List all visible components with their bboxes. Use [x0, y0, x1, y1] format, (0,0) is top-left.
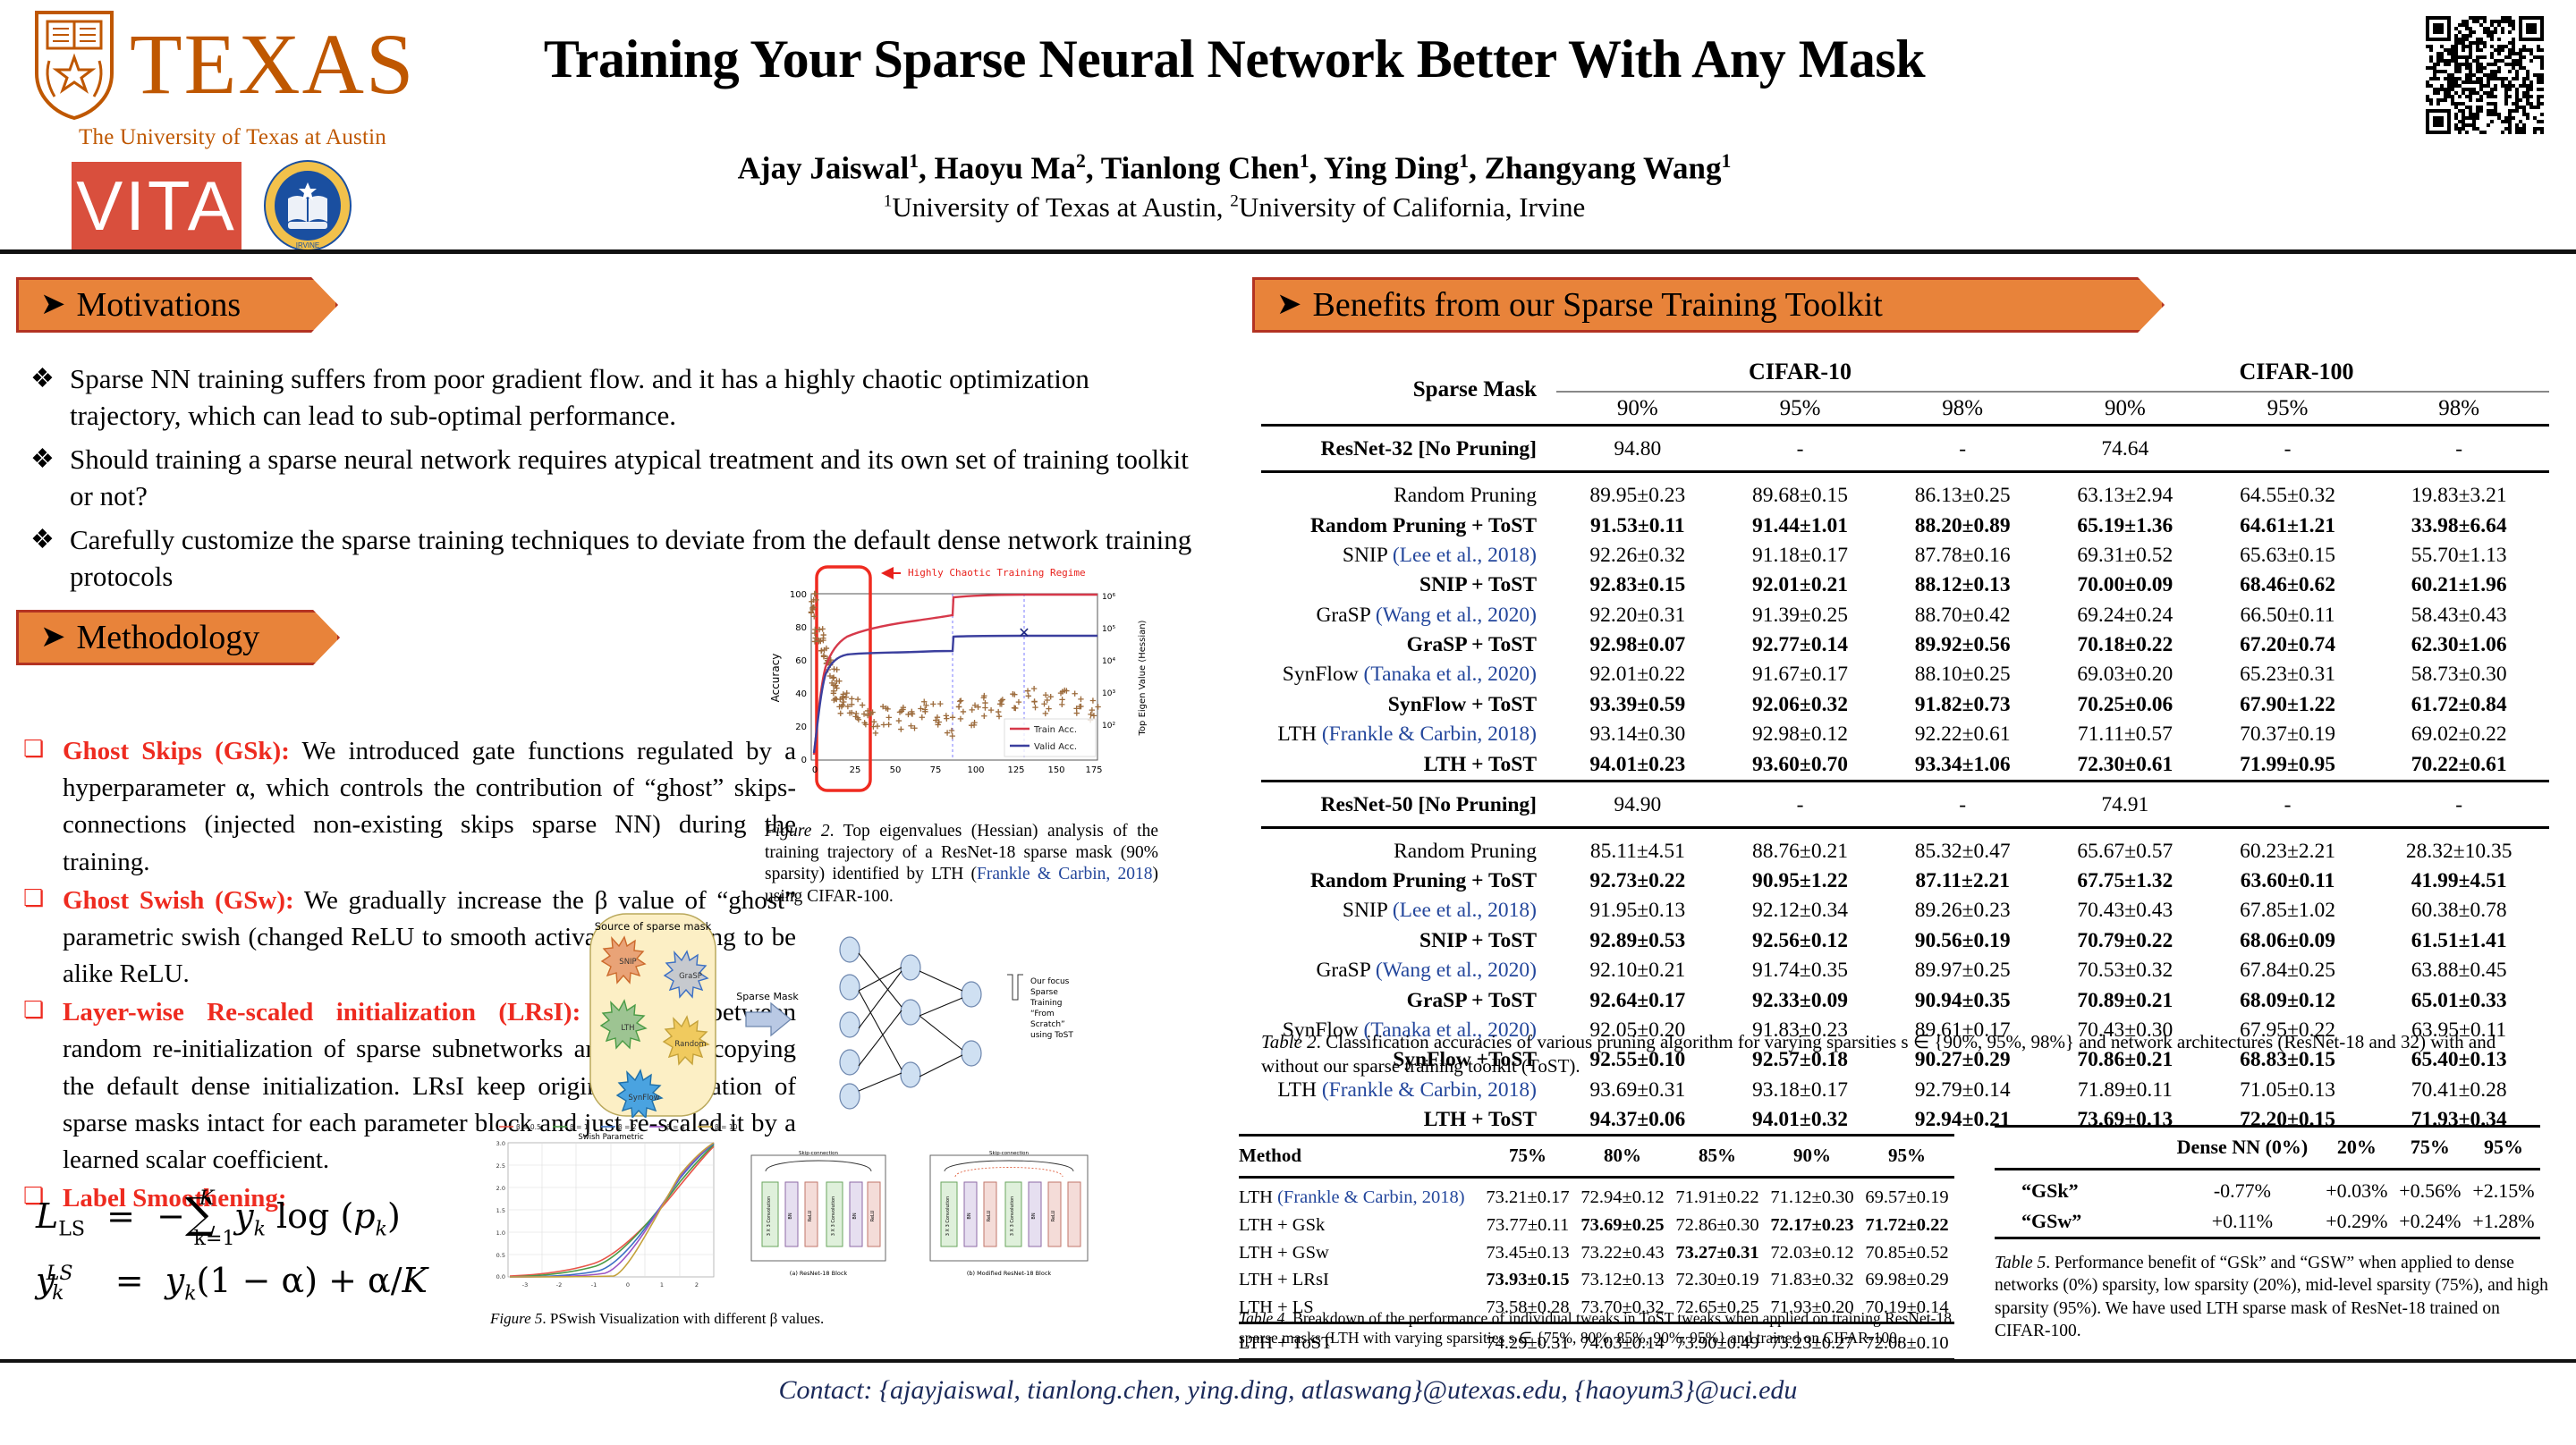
table-2-cell: 93.60±0.70 — [1719, 750, 1882, 782]
svg-text:50: 50 — [890, 765, 902, 775]
svg-text:0: 0 — [626, 1281, 630, 1289]
table-2-cell: 65.19±1.36 — [2044, 511, 2207, 541]
mask-source-diagram: Source of sparse mask SNIP GraSP LTH Ran… — [483, 912, 1199, 1118]
table-2-cell: 92.77±0.14 — [1719, 630, 1882, 660]
x-axis-ticks: 02550 75100125 150175 — [812, 765, 1103, 775]
table-2-cell: 58.73±0.30 — [2368, 660, 2549, 689]
table-2-method-label: SNIP + ToST — [1261, 570, 1556, 600]
table-2-cell: 93.69±0.31 — [1556, 1076, 1719, 1105]
table-row: Random Pruning89.95±0.2389.68±0.1586.13±… — [1261, 472, 2549, 511]
table-2-cell: 88.70±0.42 — [1881, 601, 2044, 630]
table-5-cell: +0.03% — [2320, 1169, 2394, 1206]
table-2-cell: 69.31±0.52 — [2044, 541, 2207, 570]
table-2-cell: 89.68±0.15 — [1719, 472, 1882, 511]
table-2-cell: 68.06±0.09 — [2207, 926, 2369, 956]
y-axis-left-label: Accuracy — [769, 654, 782, 703]
table-row: LTH (Frankle & Carbin, 2018)93.69±0.3193… — [1261, 1076, 2549, 1105]
table-5-caption-lead: Table 5 — [1995, 1254, 2046, 1272]
svg-text:-2: -2 — [556, 1281, 562, 1289]
table-2-cell: 70.37±0.19 — [2207, 720, 2369, 749]
figure-2-chart: Highly Chaotic Training Regime ✕ 1008060 — [765, 562, 1158, 814]
hessian-eigenvalue-chart: Highly Chaotic Training Regime ✕ 1008060 — [765, 562, 1158, 814]
table-4-cell: 70.85±0.52 — [1860, 1239, 1954, 1267]
table-2-cell: 92.26±0.32 — [1556, 541, 1719, 570]
table-4-header: 75% — [1480, 1136, 1575, 1176]
mask-source-title: Source of sparse mask — [595, 920, 712, 933]
table-2-cell: 70.53±0.32 — [2044, 956, 2207, 985]
section-banner-methodology: ➤ Methodology — [16, 610, 340, 665]
table-2-cell: 70.41±0.28 — [2368, 1076, 2549, 1105]
table-4-cell: 73.45±0.13 — [1480, 1239, 1575, 1267]
table-2-method-label: LTH (Frankle & Carbin, 2018) — [1261, 1076, 1556, 1105]
table-row: SNIP + ToST92.83±0.1592.01±0.2188.12±0.1… — [1261, 570, 2549, 600]
header-divider — [0, 249, 2576, 254]
square-bullet-icon: ❏ — [23, 994, 63, 1179]
table-2-cell: 71.89±0.11 — [2044, 1076, 2207, 1105]
table-2-cell: 67.84±0.25 — [2207, 956, 2369, 985]
swish-y-ticks: 3.02.52.0 1.51.00.5 0.0 — [496, 1140, 505, 1280]
table-4-header: Method — [1239, 1136, 1480, 1176]
table-4-caption-lead: Table 4 — [1239, 1309, 1284, 1327]
table-2-method-label: Random Pruning — [1261, 472, 1556, 511]
table-2-cell: 67.20±0.74 — [2207, 630, 2369, 660]
table-2-cell: 68.09±0.12 — [2207, 986, 2369, 1016]
section-banner-benefits: ➤ Benefits from our Sparse Training Tool… — [1252, 277, 2165, 333]
table-2-cell: 94.01±0.23 — [1556, 750, 1719, 782]
y-axis-right-label: Top Eigen Value (Hessian) — [1138, 620, 1148, 736]
table-row: GraSP (Wang et al., 2020)92.10±0.2191.74… — [1261, 956, 2549, 985]
svg-text:using ToST: using ToST — [1030, 1031, 1073, 1040]
table-2-method-label: LTH + ToST — [1261, 1105, 1556, 1135]
neural-network-graph — [840, 937, 981, 1109]
svg-text:0: 0 — [812, 765, 818, 775]
table-row: “GSw”+0.11%+0.29%+0.24%+1.28% — [1995, 1206, 2540, 1238]
table-2-cell: 88.76±0.21 — [1719, 827, 1882, 866]
table-2-cell: 92.73±0.22 — [1556, 866, 1719, 896]
table-2-cell: 33.98±6.64 — [2368, 511, 2549, 541]
ut-austin-logo: TEXAS — [31, 7, 452, 122]
table-2-cell: 68.46±0.62 — [2207, 570, 2369, 600]
svg-text:β = 4: β = 4 — [666, 1123, 685, 1131]
table-2-cell: 67.90±1.22 — [2207, 690, 2369, 720]
table-2-cell: 92.01±0.21 — [1719, 570, 1882, 600]
svg-text:Scratch”: Scratch” — [1030, 1020, 1065, 1029]
figure-5-caption: Figure 5. PSwish Visualization with diff… — [490, 1310, 866, 1328]
table-4-cell: 72.94±0.12 — [1575, 1178, 1670, 1212]
svg-text:“From: “From — [1030, 1010, 1055, 1018]
svg-text:3 X 3 Convolution: 3 X 3 Convolution — [767, 1196, 772, 1236]
list-item: ❖ Sparse NN training suffers from poor g… — [23, 361, 1195, 435]
figure-2-caption-lead: Figure 2 — [765, 822, 830, 841]
table-2-cell: 62.30±1.06 — [2368, 630, 2549, 660]
table-row: LTH (Frankle & Carbin, 2018)93.14±0.3092… — [1261, 720, 2549, 749]
table-2-caption-body: . Classification accuracies of various p… — [1261, 1031, 2495, 1077]
affiliation-list: 1University of Texas at Austin, 2Univers… — [465, 191, 2004, 224]
motivation-text: Should training a sparse neural network … — [70, 442, 1195, 515]
table-2-cell: 74.91 — [2044, 781, 2207, 820]
table-2-cell: - — [1881, 781, 2044, 820]
table-4-header: 95% — [1860, 1136, 1954, 1176]
table-4-cell: 73.77±0.11 — [1480, 1212, 1575, 1239]
table-2-cell: 67.75±1.32 — [2044, 866, 2207, 896]
table-2-sparsity-header: 98% — [2368, 392, 2549, 426]
list-item: ❖ Should training a sparse neural networ… — [23, 442, 1195, 515]
table-4-cell: 73.12±0.13 — [1575, 1266, 1670, 1294]
table-2-cell: 88.12±0.13 — [1881, 570, 2044, 600]
pswish-chart: β = 0.5 β = 1 β = 2 β = 4 β = 10 Swish P… — [483, 1118, 1199, 1310]
chart-legend: Train Acc. Valid Acc. — [1004, 719, 1096, 756]
svg-text:3 X 3 Convolution: 3 X 3 Convolution — [1010, 1196, 1015, 1236]
table-row: GraSP + ToST92.98±0.0792.77±0.1489.92±0.… — [1261, 630, 2549, 660]
table-2-cell: - — [2207, 426, 2369, 465]
svg-text:125: 125 — [1007, 765, 1024, 775]
table-2-cell: 64.55±0.32 — [2207, 472, 2369, 511]
svg-text:Skip-connection: Skip-connection — [799, 1151, 838, 1156]
table-row: LTH + LRsI73.93±0.1573.12±0.1372.30±0.19… — [1239, 1266, 1954, 1294]
table-2-cell: - — [2368, 781, 2549, 820]
table-2-cell: 65.63±0.15 — [2207, 541, 2369, 570]
qr-code-icon[interactable] — [2426, 16, 2544, 134]
table-2-citation[interactable]: (Wang et al., 2020) — [1376, 959, 1537, 982]
table-2-cell: 60.21±1.96 — [2368, 570, 2549, 600]
table-2-cell: 94.01±0.32 — [1719, 1105, 1882, 1135]
table-2-cell: 87.11±2.21 — [1881, 866, 2044, 896]
table-2-cell: 92.20±0.31 — [1556, 601, 1719, 630]
table-2-cell: 91.95±0.13 — [1556, 896, 1719, 925]
table-2-sparsity-header: 90% — [2044, 392, 2207, 426]
svg-text:SNIP: SNIP — [619, 958, 636, 967]
table-2-group-header: CIFAR-100 — [2044, 356, 2549, 392]
table-2-method-label: Random Pruning — [1261, 827, 1556, 866]
university-logos: TEXAS The University of Texas at Austin … — [31, 7, 452, 252]
table-2-cell: 91.53±0.11 — [1556, 511, 1719, 541]
poster-root: TEXAS The University of Texas at Austin … — [0, 0, 2576, 1445]
list-item: ❏ Ghost Skips (GSk): We introduced gate … — [23, 733, 810, 881]
y-axis-right-ticks: 10⁶10⁵ 10⁴10³ 10² — [1102, 593, 1115, 731]
table-2-cell: 70.43±0.43 — [2044, 896, 2207, 925]
table-2-citation[interactable]: (Lee et al., 2018) — [1393, 544, 1537, 567]
table-2-cell: 93.14±0.30 — [1556, 720, 1719, 749]
svg-text:β = 2: β = 2 — [618, 1123, 637, 1131]
ut-shield-icon — [31, 7, 117, 122]
svg-text:0: 0 — [801, 756, 807, 765]
table-2-cell: 74.64 — [2044, 426, 2207, 465]
svg-text:150: 150 — [1047, 765, 1064, 775]
table-2-cell: 89.95±0.23 — [1556, 472, 1719, 511]
table-2-cell: 91.74±0.35 — [1719, 956, 1882, 985]
svg-text:β = 10: β = 10 — [715, 1123, 738, 1131]
svg-text:BN: BN — [967, 1213, 972, 1219]
table-2-cell: 70.79±0.22 — [2044, 926, 2207, 956]
table-2-cell: 63.60±0.11 — [2207, 866, 2369, 896]
table-4-cell: 73.21±0.17 — [1480, 1178, 1575, 1212]
table-2-cell: 41.99±4.51 — [2368, 866, 2549, 896]
table-2: Sparse MaskCIFAR-10CIFAR-10090%95%98%90%… — [1261, 356, 2549, 1135]
table-5-caption-body: . Performance benefit of “GSk” and “GSW”… — [1995, 1254, 2548, 1340]
svg-text:Valid Acc.: Valid Acc. — [1034, 742, 1077, 752]
table-5-cell: +0.11% — [2165, 1206, 2320, 1238]
svg-text:2.5: 2.5 — [496, 1162, 505, 1170]
table-4-cell: 72.03±0.12 — [1765, 1239, 1860, 1267]
table-5-row-label: “GSw” — [1995, 1206, 2165, 1238]
svg-text:β = 1: β = 1 — [570, 1123, 589, 1131]
table-2-cell: 92.22±0.61 — [1881, 720, 2044, 749]
table-5-cell: +0.29% — [2320, 1206, 2394, 1238]
table-2-cell: 70.18±0.22 — [2044, 630, 2207, 660]
table-2-method-label: SynFlow + ToST — [1261, 690, 1556, 720]
table-row: SNIP (Lee et al., 2018)92.26±0.3291.18±0… — [1261, 541, 2549, 570]
table-4-cell: 73.27±0.31 — [1670, 1239, 1765, 1267]
table-4-header: 80% — [1575, 1136, 1670, 1176]
table-4-cell: 73.93±0.15 — [1480, 1266, 1575, 1294]
table-2-cell: - — [2207, 781, 2369, 820]
uc-irvine-seal-icon: IRVINE — [261, 159, 354, 252]
table-2-cell: 70.00±0.09 — [2044, 570, 2207, 600]
table-5: Dense NN (0%)20%75%95%“GSk”-0.77%+0.03%+… — [1995, 1125, 2540, 1241]
motivation-text: Sparse NN training suffers from poor gra… — [70, 361, 1195, 435]
table-4-cell: 69.57±0.19 — [1860, 1178, 1954, 1212]
svg-text:3 X 3 Convolution: 3 X 3 Convolution — [945, 1196, 951, 1236]
svg-text:2.0: 2.0 — [496, 1185, 505, 1192]
table-row: LTH + GSw73.45±0.1373.22±0.4373.27±0.317… — [1239, 1239, 1954, 1267]
table-2-cell: 69.03±0.20 — [2044, 660, 2207, 689]
table-2-cell: - — [1881, 426, 2044, 465]
y-axis-left-ticks: 1008060 40200 — [790, 590, 807, 765]
methodology-heading: Ghost Skips (GSk): — [63, 737, 290, 765]
svg-text:60: 60 — [795, 656, 807, 666]
table-5-caption: Table 5. Performance benefit of “GSk” an… — [1995, 1252, 2549, 1342]
figure-5-caption-body: . PSwish Visualization with different β … — [542, 1310, 824, 1327]
table-4-cell: 71.12±0.30 — [1765, 1178, 1860, 1212]
table-2-baseline-label: ResNet-32 [No Pruning] — [1261, 426, 1556, 465]
figure-5-caption-lead: Figure 5 — [490, 1310, 542, 1327]
modified-resnet18-block-diagram: Skip-connection 3 X 3 Convolution BN ReL… — [930, 1151, 1088, 1277]
table-4-header: 85% — [1670, 1136, 1765, 1176]
table-2-cell: 92.83±0.15 — [1556, 570, 1719, 600]
methodology-text: Ghost Skips (GSk): We introduced gate fu… — [63, 733, 796, 881]
table-2-cell: 71.99±0.95 — [2207, 750, 2369, 782]
table-5-cell: +0.56% — [2394, 1169, 2467, 1206]
table-2-cell: 64.61±1.21 — [2207, 511, 2369, 541]
table-2-cell: 65.01±0.33 — [2368, 986, 2549, 1016]
svg-text:IRVINE: IRVINE — [296, 241, 320, 249]
table-2-cell: 65.67±0.57 — [2044, 827, 2207, 866]
table-2-cell: 71.11±0.57 — [2044, 720, 2207, 749]
page-title: Training Your Sparse Neural Network Bett… — [465, 29, 2004, 90]
table-2-cell: - — [2368, 426, 2549, 465]
table-2-cell: 63.88±0.45 — [2368, 956, 2549, 985]
table-row: SynFlow (Tanaka et al., 2020)92.01±0.229… — [1261, 660, 2549, 689]
table-5-header: 75% — [2394, 1127, 2467, 1168]
block-a-caption: (a) ResNet-18 Block — [790, 1270, 848, 1277]
table-2-cell: 93.39±0.59 — [1556, 690, 1719, 720]
svg-text:75: 75 — [930, 765, 942, 775]
chevron-right-icon: ➤ — [1276, 290, 1302, 320]
svg-text:10²: 10² — [1102, 722, 1115, 731]
table-2-cell: 63.13±2.94 — [2044, 472, 2207, 511]
table-4-cell: 71.91±0.22 — [1670, 1178, 1765, 1212]
table-2-cell: 60.23±2.21 — [2207, 827, 2369, 866]
table-row: Random Pruning85.11±4.5188.76±0.2185.32±… — [1261, 827, 2549, 866]
table-4-cell: 72.30±0.19 — [1670, 1266, 1765, 1294]
table-2-cell: 70.25±0.06 — [2044, 690, 2207, 720]
table-5-row-label: “GSk” — [1995, 1169, 2165, 1206]
table-2-cell: 92.64±0.17 — [1556, 986, 1719, 1016]
section-title-motivations: Motivations — [77, 285, 241, 325]
section-banner-motivations: ➤ Motivations — [16, 277, 338, 333]
table-2-citation[interactable]: (Frankle & Carbin, 2018) — [1322, 722, 1537, 746]
table-2-cell: - — [1719, 426, 1882, 465]
svg-text:BN: BN — [852, 1213, 858, 1219]
svg-text:1.0: 1.0 — [496, 1230, 505, 1237]
table-2-cell: 92.98±0.07 — [1556, 630, 1719, 660]
table-2-cell: 88.10±0.25 — [1881, 660, 2044, 689]
table-2-cell: 91.82±0.73 — [1881, 690, 2044, 720]
table-5-cell: +0.24% — [2394, 1206, 2467, 1238]
table-5-header: Dense NN (0%) — [2165, 1127, 2320, 1168]
chevron-right-icon: ➤ — [40, 290, 66, 320]
table-2-cell: 93.18±0.17 — [1719, 1076, 1882, 1105]
author-list: Ajay Jaiswal1, Haoyu Ma2, Tianlong Chen1… — [465, 150, 2004, 187]
table-4-citation[interactable]: (Frankle & Carbin, 2018) — [1277, 1187, 1465, 1207]
svg-text:40: 40 — [795, 689, 807, 699]
svg-text:ReLU: ReLU — [987, 1210, 992, 1221]
table-2-cell: 85.11±4.51 — [1556, 827, 1719, 866]
table-4-caption: Table 4. Breakdown of the performance of… — [1239, 1309, 1954, 1348]
table-4-caption-body: . Breakdown of the performance of indivi… — [1239, 1309, 1952, 1347]
table-2-cell: 86.13±0.25 — [1881, 472, 2044, 511]
table-4-cell: 69.98±0.29 — [1860, 1266, 1954, 1294]
table-2-cell: 70.22±0.61 — [2368, 750, 2549, 782]
svg-text:LTH: LTH — [621, 1024, 634, 1033]
table-4-cell: 73.69±0.25 — [1575, 1212, 1670, 1239]
table-4-cell: 73.22±0.43 — [1575, 1239, 1670, 1267]
table-2-cell: 90.95±1.22 — [1719, 866, 1882, 896]
table-4-cell: 71.72±0.22 — [1860, 1212, 1954, 1239]
svg-text:0.5: 0.5 — [496, 1252, 505, 1259]
table-2-cell: 61.72±0.84 — [2368, 690, 2549, 720]
table-2-cell: 60.38±0.78 — [2368, 896, 2549, 925]
table-2-cell: 92.06±0.32 — [1719, 690, 1882, 720]
svg-text:Training: Training — [1030, 999, 1063, 1008]
table-4-cell: 71.83±0.32 — [1765, 1266, 1860, 1294]
svg-text:10⁴: 10⁴ — [1102, 657, 1115, 666]
table-5-cell: -0.77% — [2165, 1169, 2320, 1206]
figure-2-citation[interactable]: Frankle & Carbin, 2018 — [977, 865, 1152, 883]
svg-text:-3: -3 — [522, 1281, 528, 1289]
table-2-method-label: GraSP (Wang et al., 2020) — [1261, 601, 1556, 630]
table-5-header: 95% — [2467, 1127, 2540, 1168]
svg-text:Our focus: Our focus — [1030, 977, 1070, 986]
table-row: Random Pruning + ToST92.73±0.2290.95±1.2… — [1261, 866, 2549, 896]
table-2-sparsity-header: 90% — [1556, 392, 1719, 426]
table-2-cell: 92.98±0.12 — [1719, 720, 1882, 749]
table-2-cell: 94.80 — [1556, 426, 1719, 465]
table-2-cell: 92.56±0.12 — [1719, 926, 1882, 956]
table-2-baseline-label: ResNet-50 [No Pruning] — [1261, 781, 1556, 820]
table-2-citation[interactable]: (Wang et al., 2020) — [1376, 604, 1537, 627]
table-row: Random Pruning + ToST91.53±0.1191.44±1.0… — [1261, 511, 2549, 541]
table-4-method-label: LTH + GSk — [1239, 1212, 1480, 1239]
table-2-cell: 89.26±0.23 — [1881, 896, 2044, 925]
table-2-method-label: Random Pruning + ToST — [1261, 866, 1556, 896]
table-4-header: 90% — [1765, 1136, 1860, 1176]
svg-text:10³: 10³ — [1102, 689, 1115, 698]
svg-text:Train Acc.: Train Acc. — [1033, 725, 1077, 735]
svg-text:BN: BN — [1031, 1213, 1037, 1219]
swish-title: Swish Parametric — [578, 1133, 644, 1142]
table-2-cell: 89.97±0.25 — [1881, 956, 2044, 985]
table-2-cell: 91.44±1.01 — [1719, 511, 1882, 541]
section-title-methodology: Methodology — [77, 618, 260, 657]
table-2-sparsity-header: 98% — [1881, 392, 2044, 426]
table-2-cell: 91.67±0.17 — [1719, 660, 1882, 689]
table-2-cell: 87.78±0.16 — [1881, 541, 2044, 570]
table-2-method-label: SNIP (Lee et al., 2018) — [1261, 541, 1556, 570]
table-2-cell: 71.05±0.13 — [2207, 1076, 2369, 1105]
svg-text:ReLU: ReLU — [808, 1210, 813, 1221]
chevron-right-icon: ➤ — [40, 622, 66, 653]
right-arrow-icon — [746, 1003, 791, 1035]
table-2-cell: 92.79±0.14 — [1881, 1076, 2044, 1105]
table-4-method-label: LTH + LRsI — [1239, 1266, 1480, 1294]
svg-text:2: 2 — [695, 1281, 699, 1289]
ut-subtitle: The University of Texas at Austin — [40, 125, 425, 150]
table-row: SNIP (Lee et al., 2018)91.95±0.1392.12±0… — [1261, 896, 2549, 925]
svg-text:BN: BN — [788, 1213, 793, 1219]
valid-acc-marker: ✕ — [1018, 624, 1030, 641]
table-2-cell: 92.01±0.22 — [1556, 660, 1719, 689]
table-2-cell: 92.89±0.53 — [1556, 926, 1719, 956]
svg-text:25: 25 — [850, 765, 861, 775]
table-2-method-label: GraSP + ToST — [1261, 630, 1556, 660]
table-2-method-label: GraSP (Wang et al., 2020) — [1261, 956, 1556, 985]
secondary-logos: VITA IRVINE — [72, 159, 452, 252]
table-2-citation[interactable]: (Lee et al., 2018) — [1393, 899, 1537, 922]
table-2-cell: 85.32±0.47 — [1881, 827, 2044, 866]
table-2-cell: 89.92±0.56 — [1881, 630, 2044, 660]
svg-text:100: 100 — [790, 590, 807, 600]
table-row: LTH + ToST94.01±0.2393.60±0.7093.34±1.06… — [1261, 750, 2549, 782]
table-5-header: 20% — [2320, 1127, 2394, 1168]
table-2-citation[interactable]: (Frankle & Carbin, 2018) — [1322, 1078, 1537, 1102]
chaotic-regime-annotation: Highly Chaotic Training Regime — [908, 567, 1086, 579]
table-2-cell: 72.30±0.61 — [2044, 750, 2207, 782]
table-2-citation[interactable]: (Tanaka et al., 2020) — [1364, 663, 1537, 686]
svg-text:0.0: 0.0 — [496, 1273, 505, 1280]
table-2-sparsity-header: 95% — [1719, 392, 1882, 426]
svg-text:SynFlow: SynFlow — [628, 1094, 659, 1103]
table-2-cell: 66.50±0.11 — [2207, 601, 2369, 630]
diamond-bullet-icon: ❖ — [23, 442, 70, 515]
table-2-method-label: LTH + ToST — [1261, 750, 1556, 782]
svg-text:ReLU: ReLU — [870, 1210, 876, 1221]
table-4-cell: 72.86±0.30 — [1670, 1212, 1765, 1239]
table-2-method-label: SNIP + ToST — [1261, 926, 1556, 956]
table-5-cell: +2.15% — [2467, 1169, 2540, 1206]
figure-2-caption: Figure 2. Top eigenvalues (Hessian) anal… — [765, 821, 1158, 908]
table-2-method-label: LTH (Frankle & Carbin, 2018) — [1261, 720, 1556, 749]
svg-text:10⁵: 10⁵ — [1102, 625, 1115, 634]
section-title-benefits: Benefits from our Sparse Training Toolki… — [1313, 285, 1883, 325]
table-2-cell: 55.70±1.13 — [2368, 541, 2549, 570]
swish-x-ticks: -3-2-1 012 — [522, 1281, 699, 1289]
table-4-method-label: LTH + GSw — [1239, 1239, 1480, 1267]
svg-text:3 X 3 Convolution: 3 X 3 Convolution — [831, 1196, 836, 1236]
svg-text:10⁶: 10⁶ — [1102, 593, 1115, 602]
table-row: GraSP + ToST92.64±0.1792.33±0.0990.94±0.… — [1261, 986, 2549, 1016]
table-2-cell: 92.10±0.21 — [1556, 956, 1719, 985]
